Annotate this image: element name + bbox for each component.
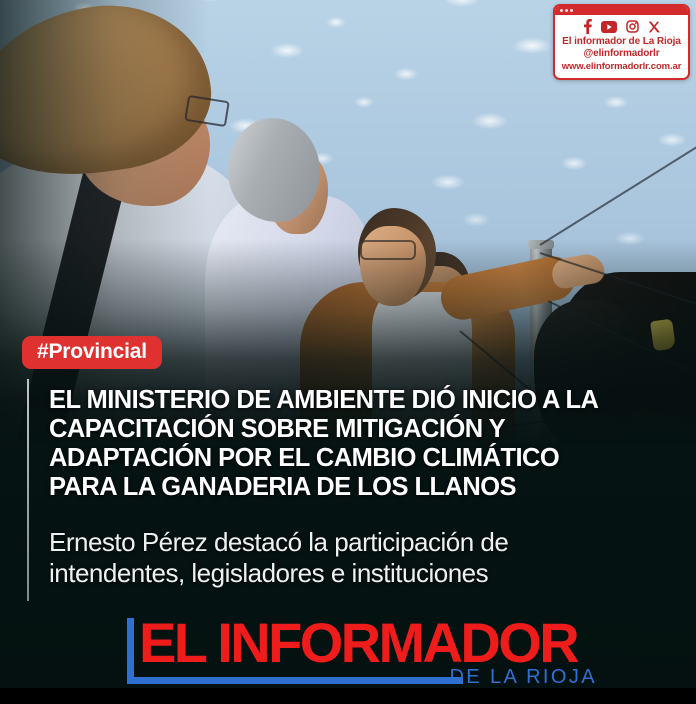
social-media-badge[interactable]: El informador de La Rioja @elinformadorl…: [553, 4, 690, 80]
badge-title-bar: [555, 6, 688, 15]
headline: EL MINISTERIO DE AMBIENTE DIÓ INICIO A L…: [49, 386, 663, 502]
badge-handle: @elinformadorlr: [558, 48, 685, 60]
bottom-black-bar: [0, 688, 696, 704]
window-dot-icon: [570, 9, 573, 12]
facebook-icon[interactable]: [583, 19, 592, 34]
logo-wordmark: EL INFORMADOR: [139, 614, 577, 673]
badge-site-name: El informador de La Rioja: [558, 36, 685, 48]
brand-logo[interactable]: EL INFORMADOR DE LA RIOJA: [127, 616, 597, 684]
badge-text-block: El informador de La Rioja @elinformadorl…: [555, 36, 688, 78]
logo-underline-bar: [127, 677, 463, 684]
category-tag[interactable]: #Provincial: [22, 336, 162, 369]
headline-accent-rule: [27, 379, 29, 601]
badge-url[interactable]: www.elinformadorlr.com.ar: [558, 61, 685, 73]
social-icon-row: [555, 15, 688, 36]
instagram-icon[interactable]: [626, 20, 639, 33]
logo-tagline: DE LA RIOJA: [449, 667, 597, 687]
window-dot-icon: [565, 9, 568, 12]
logo-bracket-left: [127, 618, 134, 680]
news-card: El informador de La Rioja @elinformadorl…: [0, 0, 696, 704]
youtube-icon[interactable]: [601, 21, 617, 33]
subheadline: Ernesto Pérez destacó la participación d…: [49, 527, 667, 589]
window-dot-icon: [560, 9, 563, 12]
x-icon[interactable]: [648, 21, 660, 33]
